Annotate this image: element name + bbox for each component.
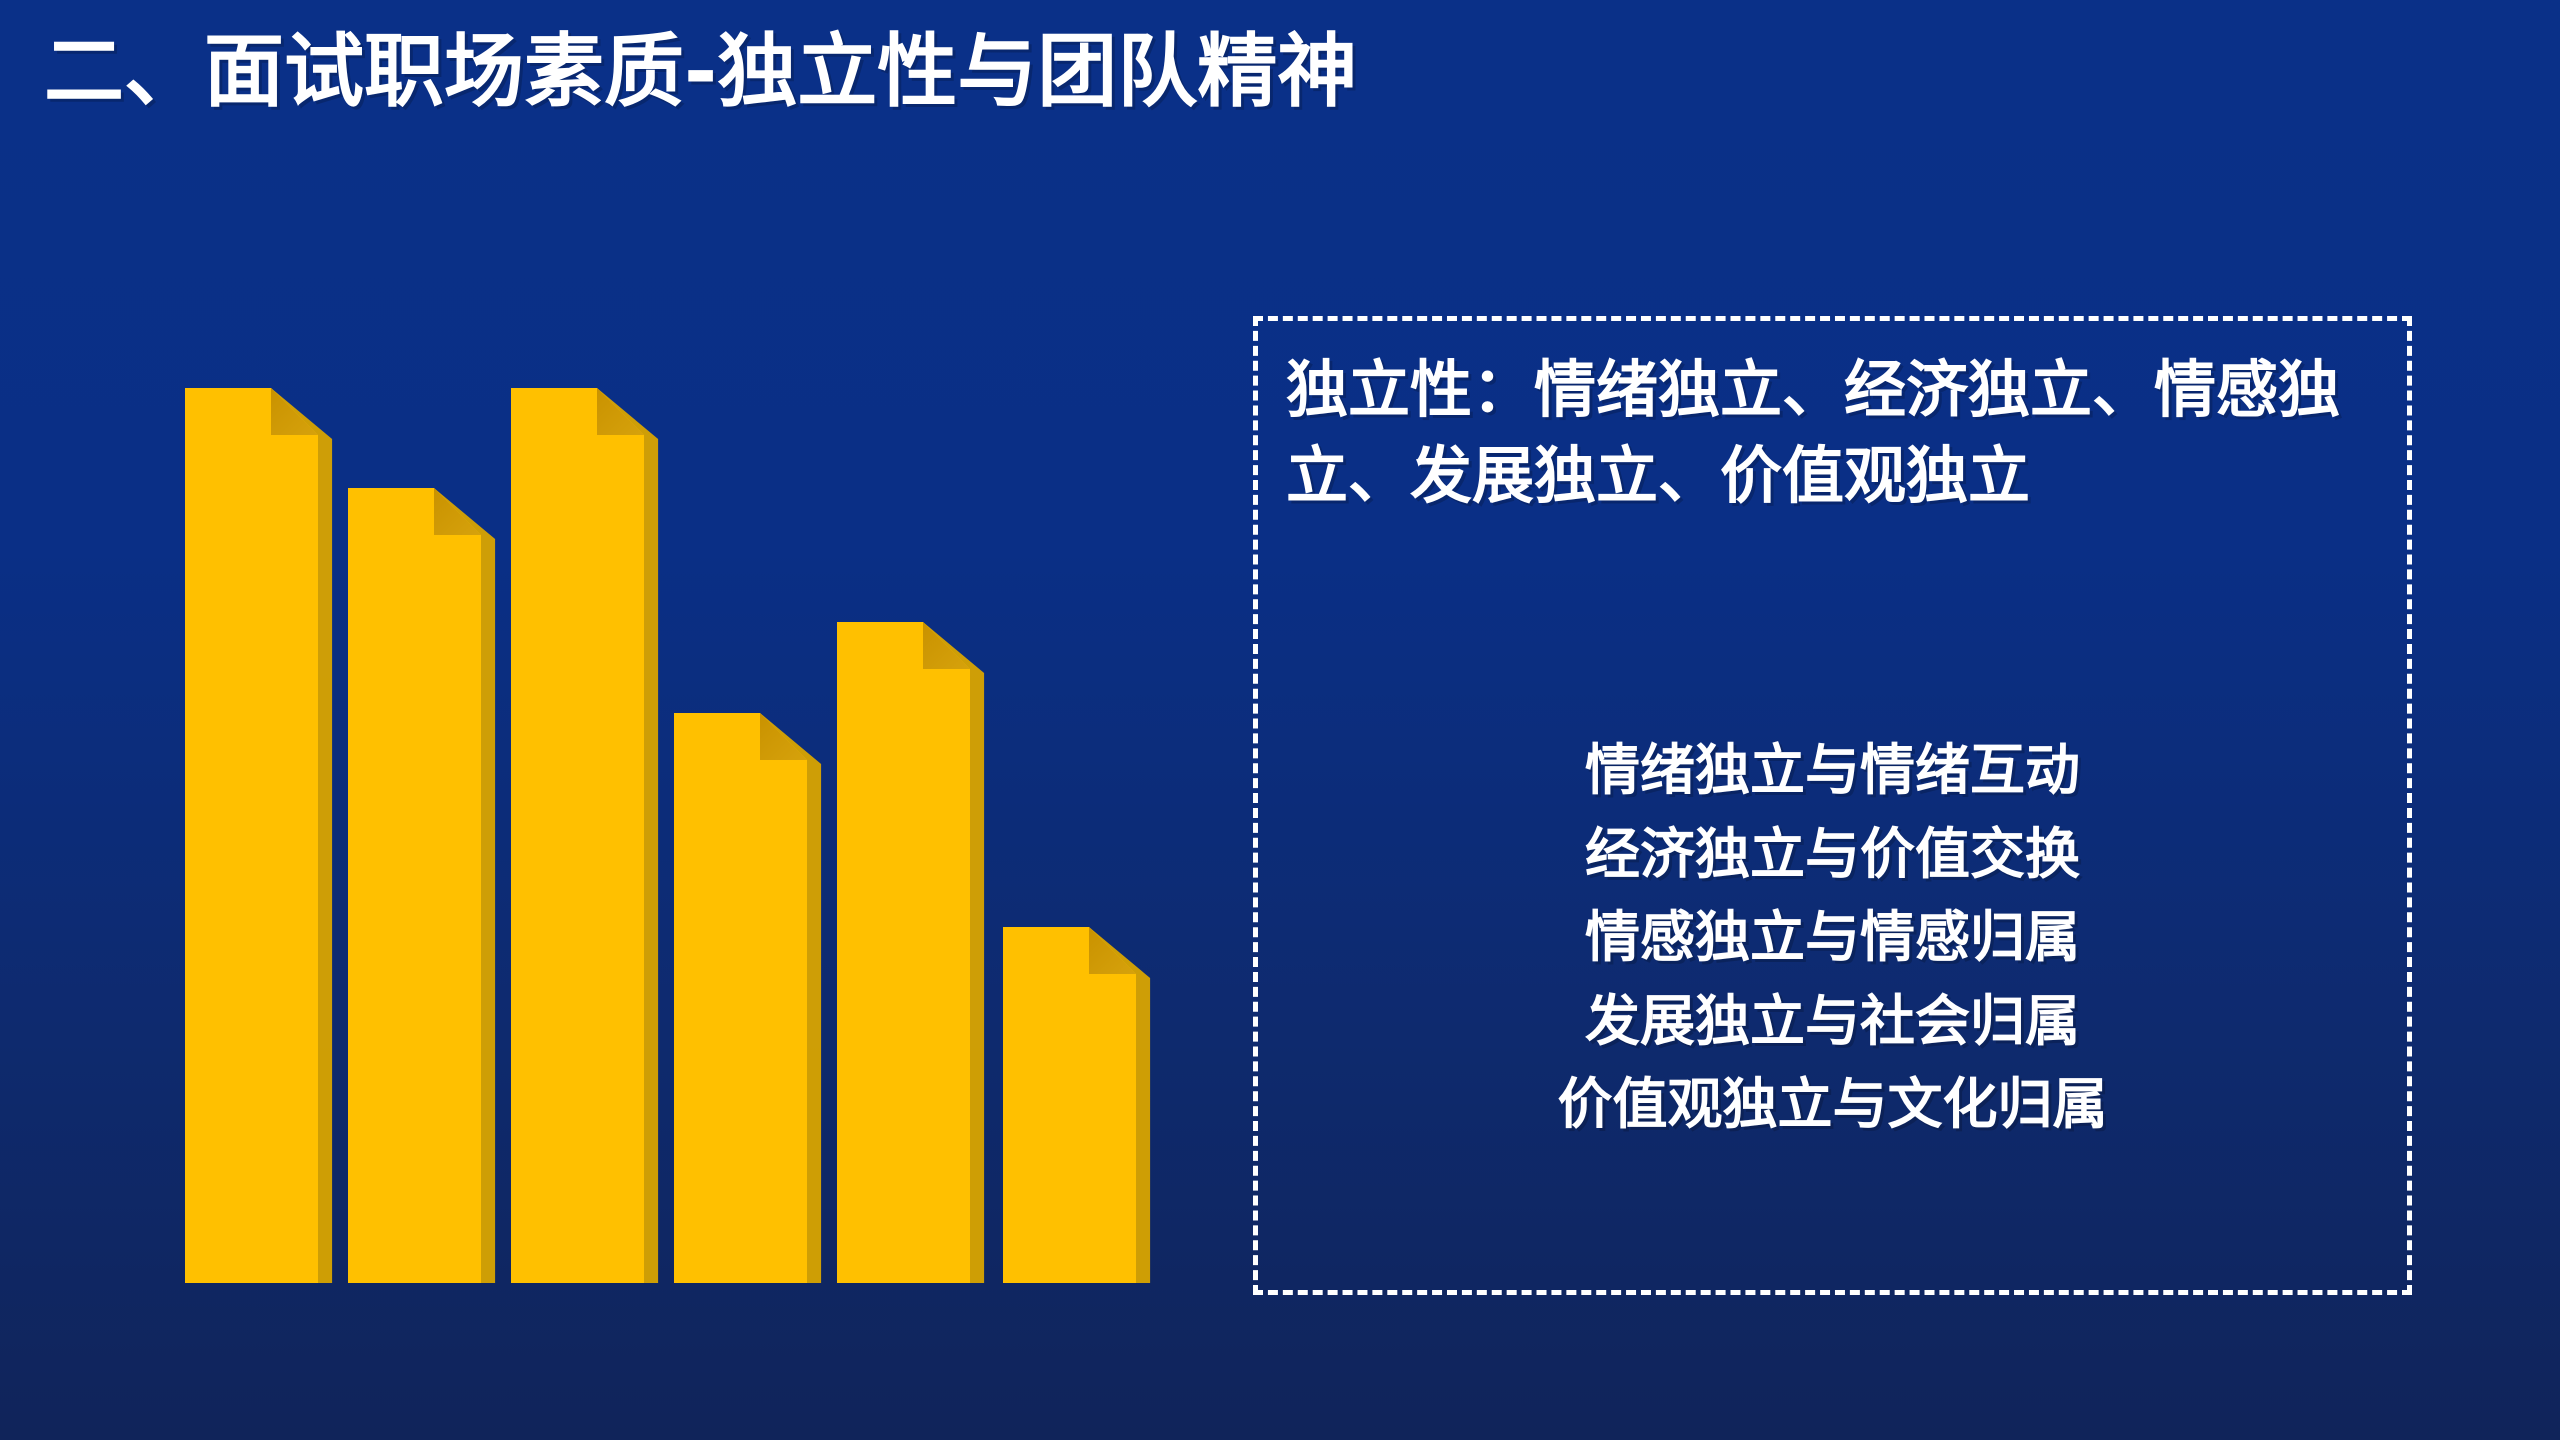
bar-2	[348, 488, 495, 1283]
list-item: 情感独立与情感归属	[1258, 896, 2407, 980]
bar-body	[185, 388, 318, 1283]
panel-list: 情绪独立与情绪互动 经济独立与价值交换 情感独立与情感归属 发展独立与社会归属 …	[1258, 729, 2407, 1147]
panel-heading: 独立性：情绪独立、经济独立、情感独立、发展独立、价值观独立	[1286, 347, 2396, 518]
info-panel: 独立性：情绪独立、经济独立、情感独立、发展独立、价值观独立 情绪独立与情绪互动 …	[1253, 316, 2412, 1295]
list-item: 发展独立与社会归属	[1258, 980, 2407, 1064]
bar-body	[1003, 927, 1136, 1283]
bar-5	[837, 622, 984, 1283]
bar-3	[511, 388, 658, 1283]
bar-body	[511, 388, 644, 1283]
bar-fold	[760, 713, 807, 760]
bar-fold	[434, 488, 481, 535]
bar-body	[674, 713, 807, 1283]
list-item: 价值观独立与文化归属	[1258, 1063, 2407, 1147]
bar-4	[674, 713, 821, 1283]
bar-fold	[923, 622, 970, 669]
slide-canvas: 二、面试职场素质-独立性与团队精神 独立性：情绪独立、经济独立、情感独立、发展独…	[0, 0, 2560, 1440]
bar-fold	[271, 388, 318, 435]
bar-1	[185, 388, 332, 1283]
list-item: 经济独立与价值交换	[1258, 813, 2407, 897]
bar-6	[1003, 927, 1150, 1283]
bar-body	[348, 488, 481, 1283]
bars-group	[185, 388, 1150, 1283]
bar-body	[837, 622, 970, 1283]
bar-fold	[597, 388, 644, 435]
bar-chart	[0, 0, 1250, 1440]
list-item: 情绪独立与情绪互动	[1258, 729, 2407, 813]
